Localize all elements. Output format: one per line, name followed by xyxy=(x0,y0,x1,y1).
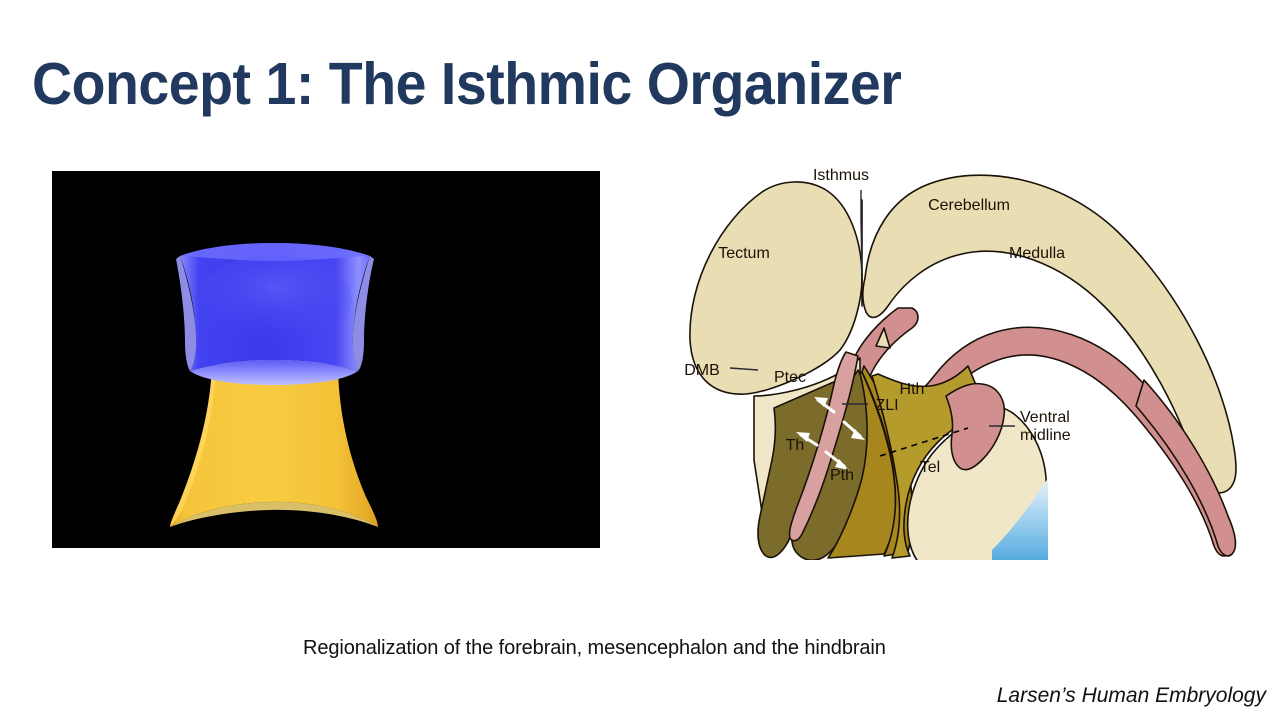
label-dmb: DMB xyxy=(684,362,720,379)
label-ventral-midline-line2: midline xyxy=(1020,427,1071,444)
brain-regionalization-diagram: Isthmus Cerebellum Tectum Medulla DMB Pt… xyxy=(662,160,1280,560)
label-ptec: Ptec xyxy=(774,369,806,386)
label-th: Th xyxy=(786,437,805,454)
label-tectum: Tectum xyxy=(718,245,770,262)
label-hth: Hth xyxy=(900,381,925,398)
midbrain-blue-shape xyxy=(176,243,374,385)
source-attribution: Larsen’s Human Embryology xyxy=(997,684,1266,708)
isthmic-organizer-render-image xyxy=(52,171,600,548)
page-title: Concept 1: The Isthmic Organizer xyxy=(32,54,901,115)
render-canvas xyxy=(52,171,600,548)
label-zli: ZLI xyxy=(875,397,898,414)
figure-caption: Regionalization of the forebrain, mesenc… xyxy=(303,637,886,660)
label-tel: Tel xyxy=(920,459,940,476)
midbrain-sheen xyxy=(196,255,352,347)
label-pth: Pth xyxy=(830,467,854,484)
diagram-canvas: Isthmus Cerebellum Tectum Medulla DMB Pt… xyxy=(662,160,1280,560)
label-isthmus: Isthmus xyxy=(813,167,869,184)
label-medulla: Medulla xyxy=(1009,245,1065,262)
label-ventral-midline-line1: Ventral xyxy=(1020,409,1070,426)
label-cerebellum: Cerebellum xyxy=(928,197,1010,214)
